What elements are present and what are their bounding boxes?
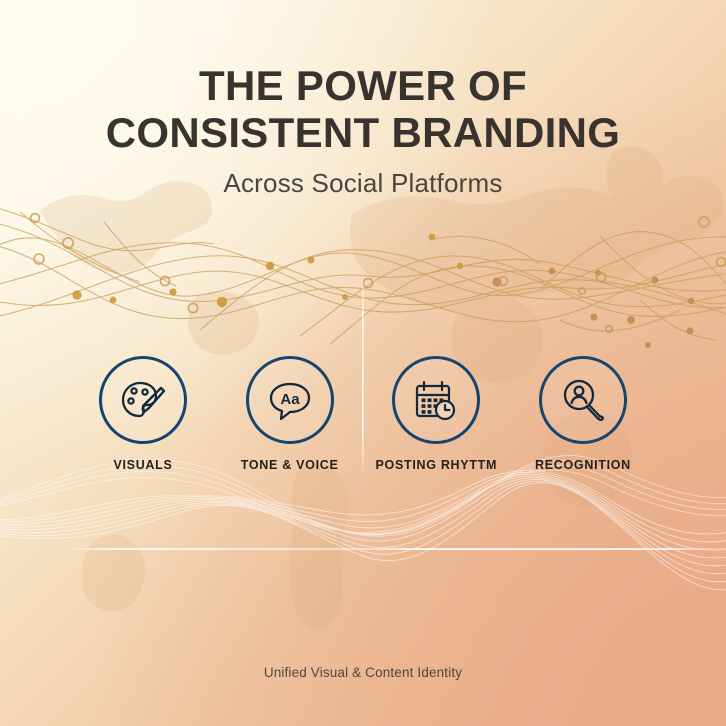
pillar-icon-ring: Aa <box>246 356 334 444</box>
speech-bubble-aa-icon: Aa <box>265 375 315 425</box>
aa-glyph-text: Aa <box>280 391 300 408</box>
pillar-label: VISUALS <box>113 458 172 472</box>
pillar-label: POSTING RHYTTM <box>376 458 498 472</box>
poster-canvas: THE POWER OF CONSISTENT BRANDING Across … <box>0 0 726 726</box>
calendar-clock-icon <box>411 375 461 425</box>
palette-brush-icon <box>118 375 168 425</box>
pillar-label: RECOGNITION <box>535 458 631 472</box>
horizontal-glow-line <box>60 548 726 550</box>
pillar-tone-and-voice[interactable]: Aa TONE & VOICE <box>217 356 363 472</box>
page-subtitle: Across Social Platforms <box>0 168 726 199</box>
pillar-posting-rhythm[interactable]: POSTING RHYTTM <box>363 356 509 472</box>
pillar-icon-ring <box>99 356 187 444</box>
pillars-row: VISUALS Aa TONE & VOICE <box>70 356 656 472</box>
pillar-recognition[interactable]: RECOGNITION <box>510 356 656 472</box>
headline-line-1: THE POWER OF <box>199 62 527 109</box>
magnifier-person-icon <box>558 375 608 425</box>
pillar-label: TONE & VOICE <box>241 458 339 472</box>
pillar-icon-ring <box>539 356 627 444</box>
pillar-icon-ring <box>392 356 480 444</box>
footer-tagline: Unified Visual & Content Identity <box>0 665 726 680</box>
page-title: THE POWER OF CONSISTENT BRANDING <box>0 62 726 156</box>
headline-line-2: CONSISTENT BRANDING <box>0 109 726 156</box>
pillar-visuals[interactable]: VISUALS <box>70 356 216 472</box>
